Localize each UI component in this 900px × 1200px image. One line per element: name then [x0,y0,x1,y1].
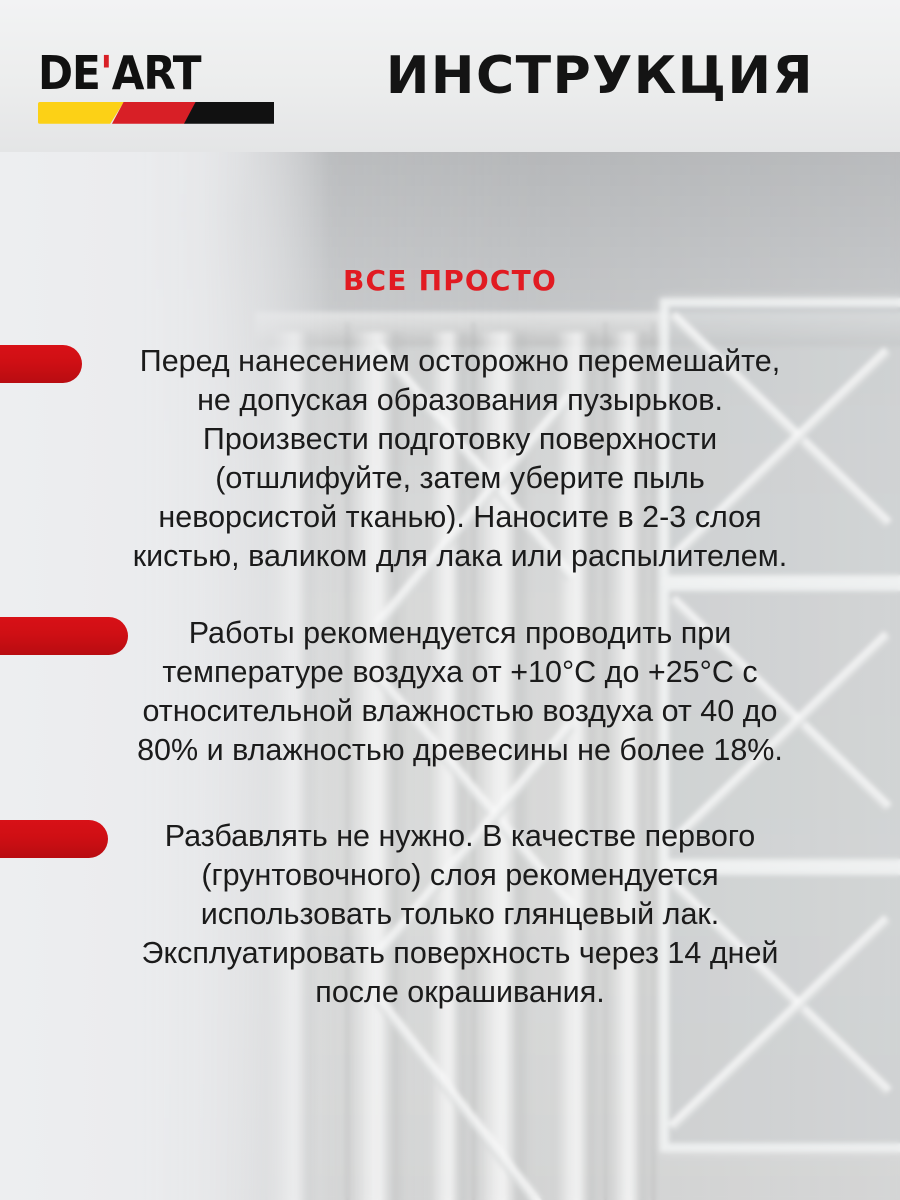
flag-stripe-red [112,102,196,124]
instruction-block-text: Работы рекомендуется проводить при темпе… [40,614,860,770]
instruction-block: Работы рекомендуется проводить при темпе… [0,614,900,770]
page-title: ИНСТРУКЦИЯ [360,0,840,152]
flag-stripe-black [184,102,274,124]
brand-logo-flag-bar [38,102,274,124]
instruction-block-text: Перед нанесением осторожно перемешайте, … [40,342,860,576]
instruction-block: Перед нанесением осторожно перемешайте, … [0,342,900,576]
brand-logo-text-before: DE [38,46,100,100]
section-heading: ВСЕ ПРОСТО [0,264,900,297]
brand-logo-wordmark: DE'ART [38,52,279,96]
brand-logo-apostrophe: ' [100,46,112,100]
flag-stripe-yellow [38,102,124,124]
page-header: DE'ART ИНСТРУКЦИЯ [0,0,900,152]
brand-logo: DE'ART [38,52,274,124]
instruction-block: Разбавлять не нужно. В качестве первого … [0,817,900,1012]
instruction-block-text: Разбавлять не нужно. В качестве первого … [40,817,860,1012]
instruction-page: DE'ART ИНСТРУКЦИЯ ВСЕ ПРОСТО Перед нанес… [0,0,900,1200]
brand-logo-text-after: ART [112,46,201,100]
instruction-content: ВСЕ ПРОСТО Перед нанесением осторожно пе… [0,152,900,1200]
